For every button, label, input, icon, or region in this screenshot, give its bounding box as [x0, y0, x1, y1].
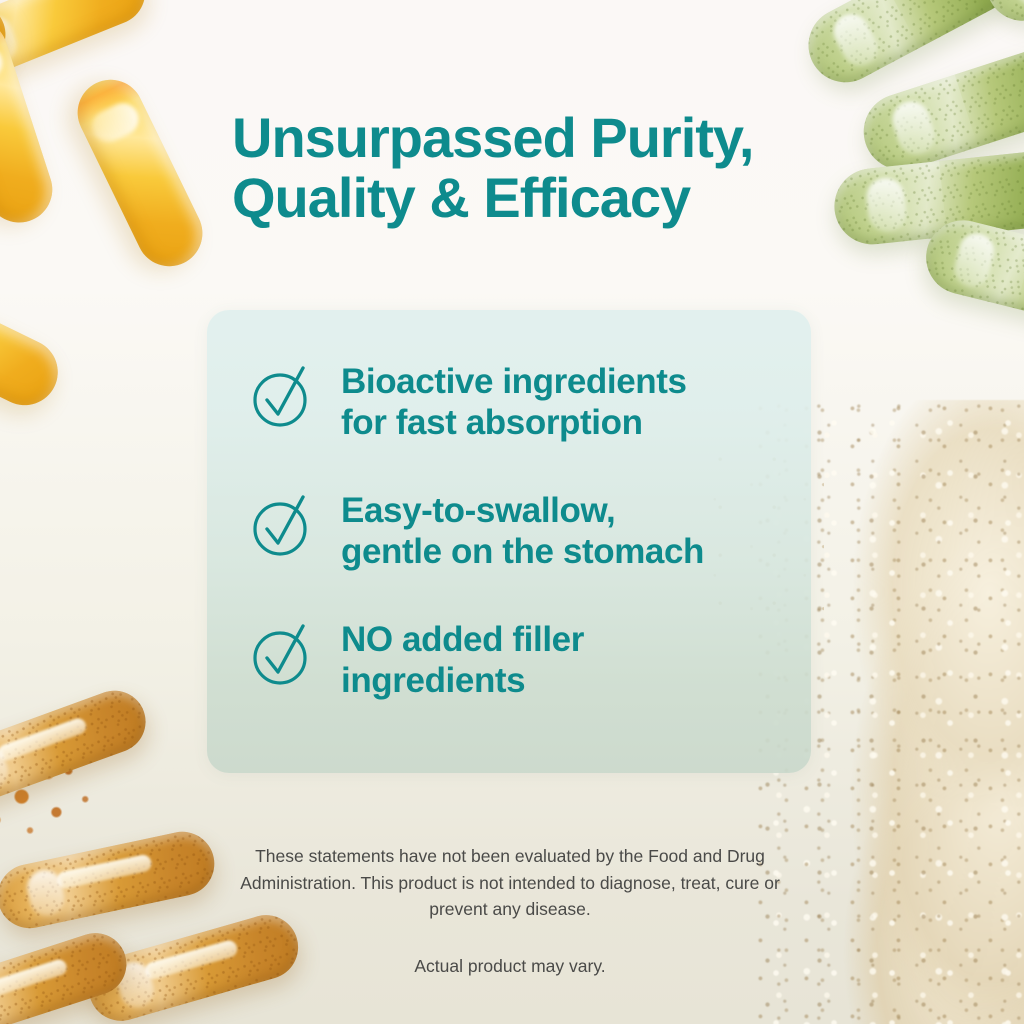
list-item: Easy-to-swallow, gentle on the stomach — [247, 487, 785, 572]
list-item: NO added filler ingredients — [247, 616, 785, 701]
benefit-text: Easy-to-swallow, gentle on the stomach — [341, 487, 704, 572]
disclaimer: These statements have not been evaluated… — [212, 843, 808, 979]
check-circle-icon — [247, 360, 319, 432]
benefit-line-1: NO added filler — [341, 620, 584, 659]
benefit-line-2: for fast absorption — [341, 403, 687, 444]
benefit-line-2: gentle on the stomach — [341, 532, 704, 573]
product-variation-note: Actual product may vary. — [212, 953, 808, 980]
product-benefits-poster: Unsurpassed Purity, Quality & Efficacy B… — [0, 0, 1024, 1024]
benefit-text: NO added filler ingredients — [341, 616, 584, 701]
list-item: Bioactive ingredients for fast absorptio… — [247, 358, 785, 443]
headline-line-1: Unsurpassed Purity, — [232, 106, 753, 169]
benefits-card: Bioactive ingredients for fast absorptio… — [207, 310, 811, 773]
check-circle-icon — [247, 489, 319, 561]
fda-disclaimer-text: These statements have not been evaluated… — [240, 846, 780, 919]
benefit-line-2: ingredients — [341, 661, 584, 702]
check-circle-icon — [247, 618, 319, 690]
turmeric-powder-scatter — [0, 716, 102, 846]
headline-line-2: Quality & Efficacy — [232, 168, 852, 228]
benefit-text: Bioactive ingredients for fast absorptio… — [341, 358, 687, 443]
page-title: Unsurpassed Purity, Quality & Efficacy — [232, 108, 852, 228]
fish-oil-softgel-capsules-decoration — [0, 0, 240, 420]
benefit-line-1: Easy-to-swallow, — [341, 491, 615, 530]
benefits-list: Bioactive ingredients for fast absorptio… — [247, 358, 785, 702]
benefit-line-1: Bioactive ingredients — [341, 362, 687, 401]
